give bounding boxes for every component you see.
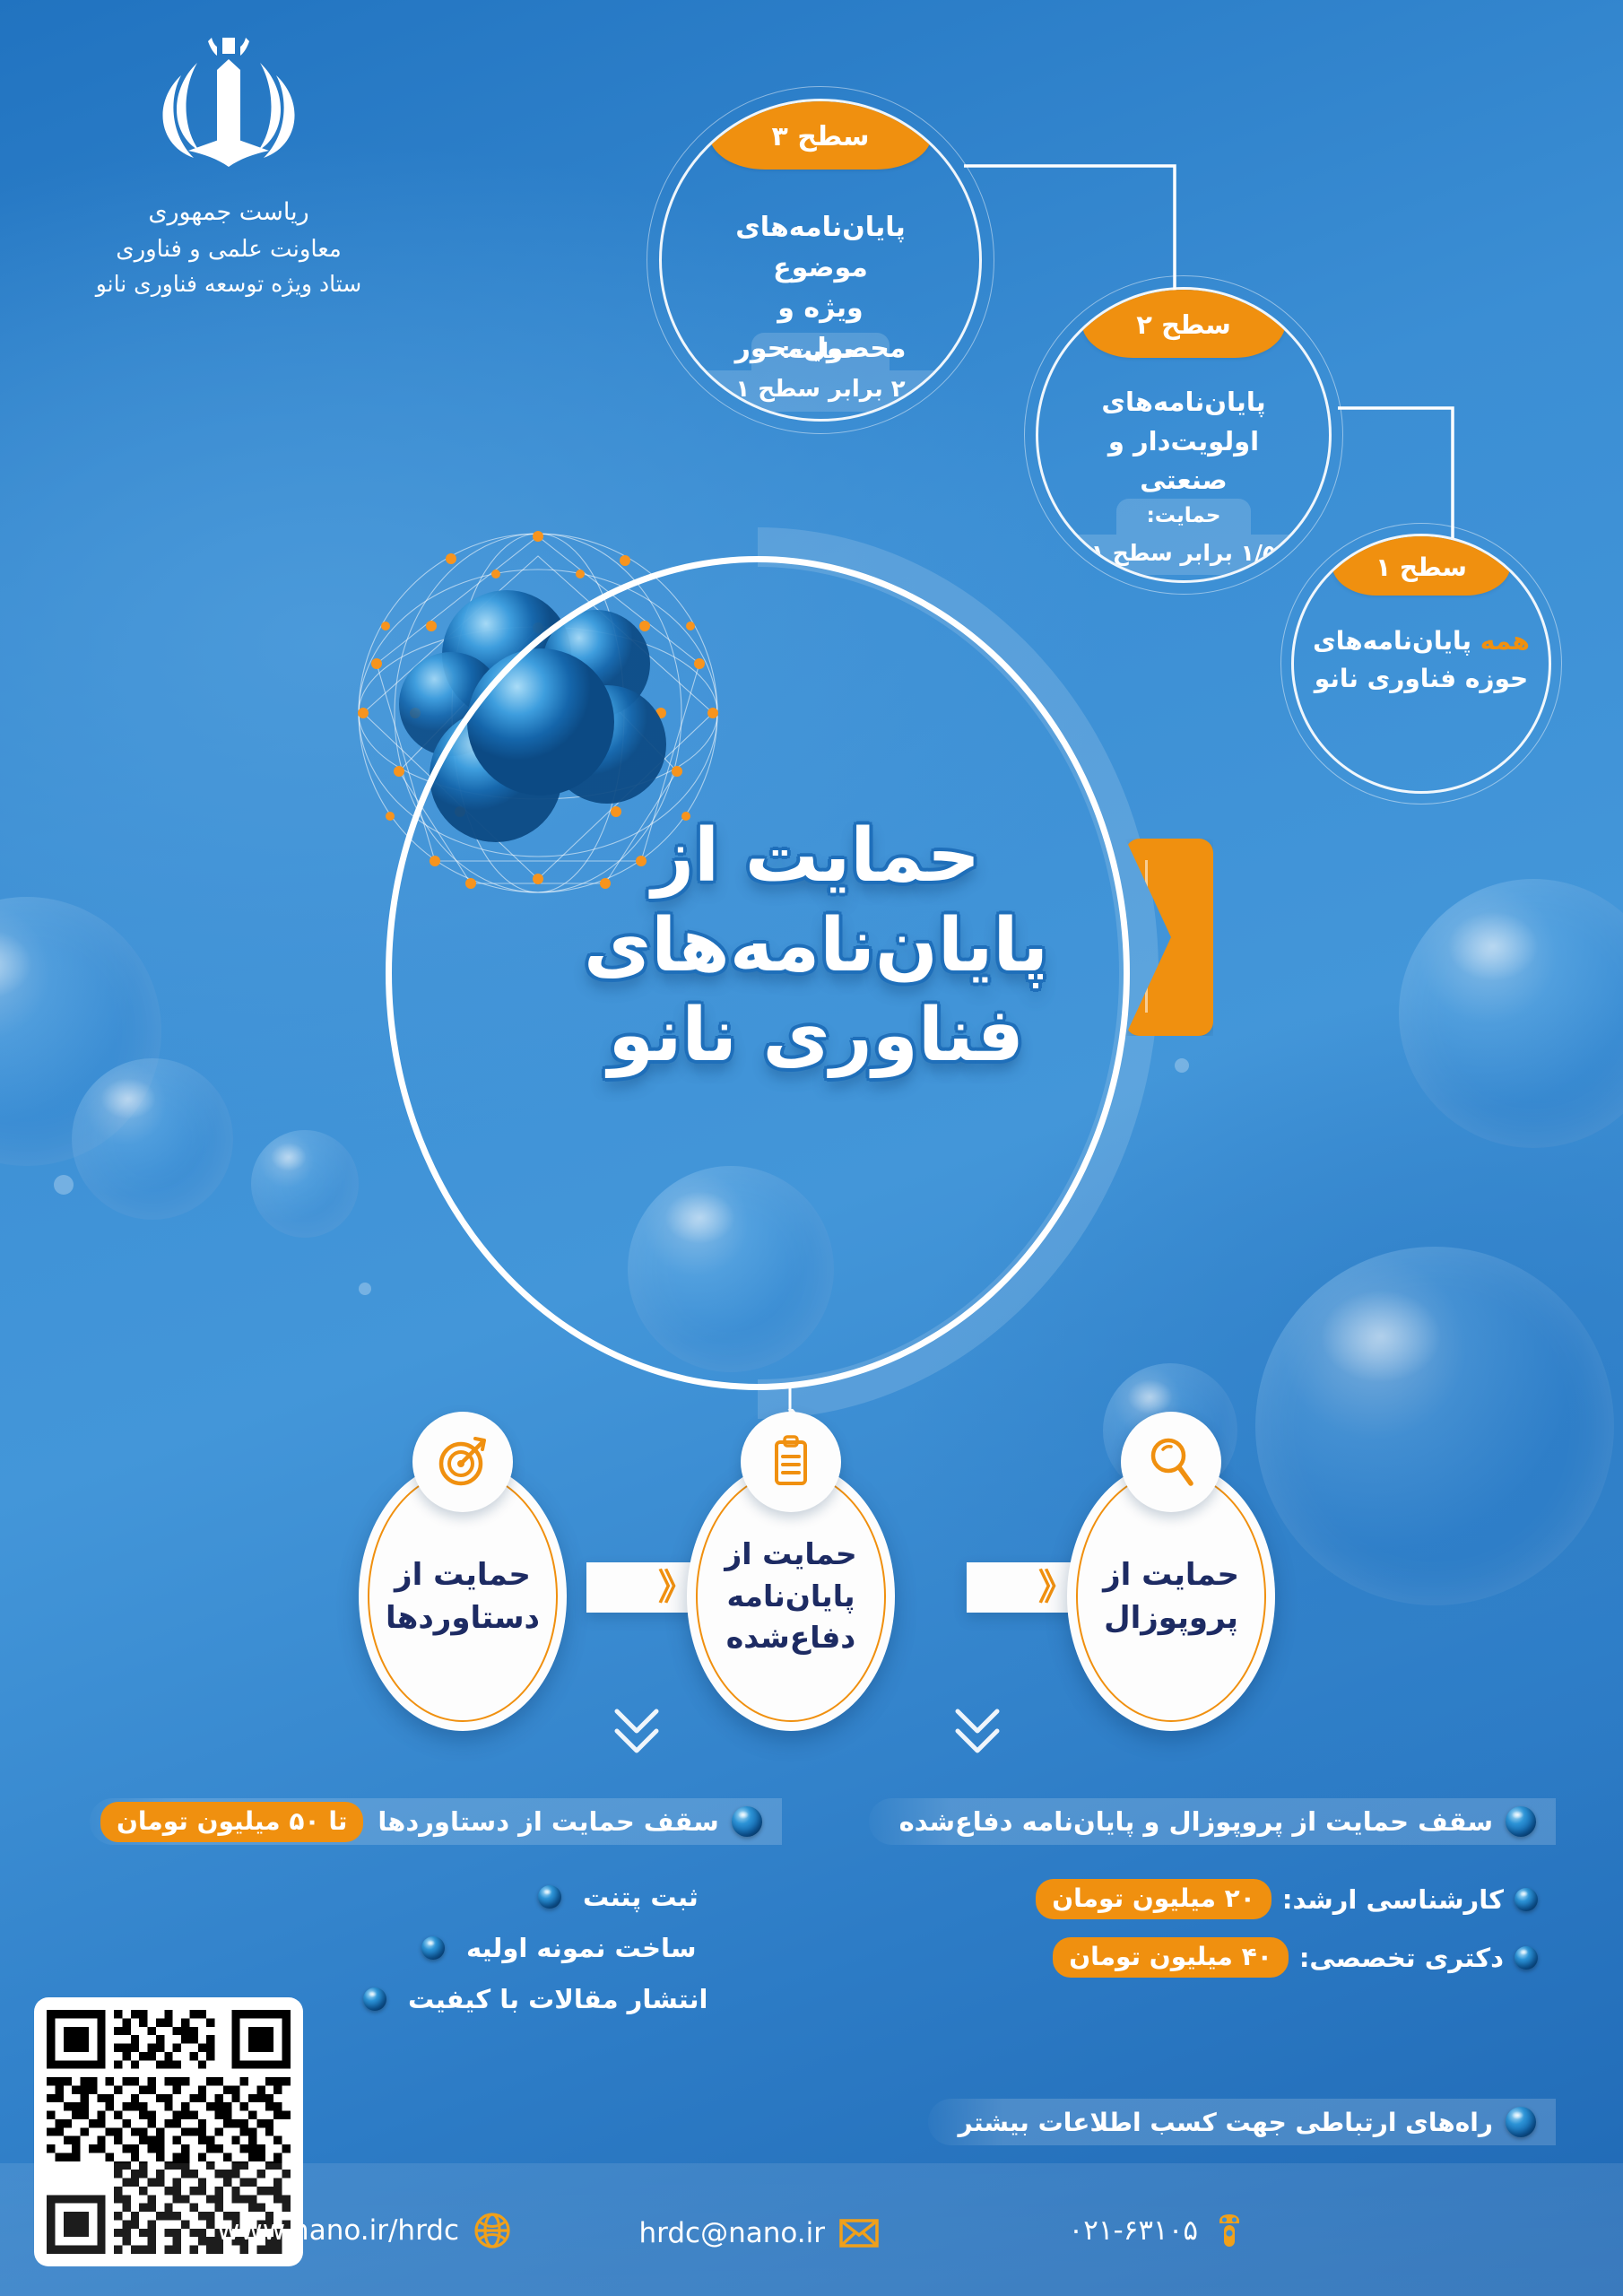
level-3-circle[interactable]: سطح ۳ پایان‌نامه‌های موضوع ویژه و محصول‌… — [659, 99, 982, 422]
defended-line3: دفاع‌شده — [725, 1617, 856, 1659]
level-1-circle[interactable]: سطح ۱ همه پایان‌نامه‌های حوزه فناوری نان… — [1291, 534, 1551, 794]
down-chevron-icon — [610, 1704, 664, 1767]
footer-phone-text: ۰۲۱-۶۳۱۰۵ — [1069, 2214, 1198, 2247]
level-2-title-line1: پایان‌نامه‌های — [1062, 383, 1306, 422]
left-item-text: ثبت پتنت — [583, 1882, 699, 1912]
bullet-marble-icon — [1506, 2107, 1536, 2137]
proposal-line2: پروپوزال — [1103, 1596, 1239, 1639]
level-2-title-line2: اولویت‌دار و صنعتی — [1062, 422, 1306, 500]
left-item-text: ساخت نمونه اولیه — [466, 1933, 696, 1963]
level-1-title-rest: پایان‌نامه‌های — [1313, 626, 1471, 656]
left-block-item: ثبت پتنت — [538, 1882, 699, 1912]
title-line3: فناوری نانو — [502, 991, 1130, 1081]
bullet-marble-icon — [421, 1936, 445, 1960]
page-title: حمایت از پایان‌نامه‌های فناوری نانو — [502, 812, 1130, 1081]
decor-bubble — [72, 1058, 233, 1220]
bullet-marble-icon — [538, 1885, 561, 1909]
level-3-support-label: حمایت: — [751, 333, 890, 370]
decor-dot — [54, 1175, 74, 1195]
level-1-title-line2: حوزه فناوری نانو — [1313, 660, 1530, 698]
clipboard-icon — [741, 1412, 841, 1512]
bullet-marble-icon — [1515, 1888, 1538, 1911]
level-3-badge-label: سطح ۳ — [771, 121, 869, 152]
proposal-line1: حمایت از — [1103, 1553, 1239, 1596]
footer-heading-text: راه‌های ارتباطی جهت کسب اطلاعات بیشتر — [959, 2108, 1493, 2137]
arc-text-highlight: همه — [323, 493, 334, 500]
footer-phone[interactable]: ۰۲۱-۶۳۱۰۵ — [1069, 2212, 1246, 2249]
right-block-row-masters: کارشناسی ارشد: ۲۰ میلیون تومان — [1036, 1879, 1538, 1919]
masters-amount: ۲۰ میلیون تومان — [1036, 1879, 1271, 1919]
level-2-badge: سطح ۲ — [1082, 288, 1286, 358]
right-block-row-phd: دکتری تخصصی: ۴۰ میلیون تومان — [1053, 1937, 1538, 1978]
footer-email[interactable]: hrdc@nano.ir — [639, 2217, 880, 2249]
bullet-marble-icon — [363, 1987, 386, 2011]
footer-heading: راه‌های ارتباطی جهت کسب اطلاعات بیشتر — [928, 2099, 1556, 2145]
decor-bubble — [1255, 1247, 1614, 1605]
right-block-heading: سقف حمایت از پروپوزال و پایان‌نامه دفاع‌… — [869, 1798, 1556, 1845]
level-2-badge-label: سطح ۲ — [1136, 309, 1230, 340]
level-3-badge: سطح ۳ — [709, 100, 932, 170]
target-icon — [412, 1412, 513, 1512]
title-line2: پایان‌نامه‌های — [502, 901, 1130, 991]
bullet-marble-icon — [732, 1806, 762, 1837]
bullet-marble-icon — [1506, 1806, 1536, 1837]
decor-bubble — [0, 897, 161, 1166]
down-chevron-icon — [950, 1704, 1004, 1767]
level-1-title-highlight: همه — [1480, 626, 1530, 656]
level-3-support: حمایت: ۲ برابر سطح ۱ — [662, 333, 979, 412]
achievements-line1: حمایت از — [386, 1553, 540, 1596]
left-item-text: انتشار مقالات با کیفیت — [408, 1984, 707, 2014]
level-1-title-line1: همه پایان‌نامه‌های — [1313, 622, 1530, 660]
poster-canvas: ریاست جمهوری معاونت علمی و فناوری ستاد و… — [0, 0, 1623, 2296]
telephone-icon — [1212, 2212, 1246, 2249]
title-line1: حمایت از — [502, 812, 1130, 901]
left-block-item: انتشار مقالات با کیفیت — [363, 1984, 707, 2014]
level-3-support-value: ۲ برابر سطح ۱ — [662, 370, 979, 412]
defended-line2: پایان‌نامه — [725, 1576, 856, 1618]
globe-icon — [473, 2212, 511, 2249]
achievements-line2: دستاوردها — [386, 1596, 540, 1639]
phd-label: دکتری تخصصی: — [1299, 1943, 1504, 1973]
footer-email-text: hrdc@nano.ir — [639, 2217, 826, 2249]
defended-line1: حمایت از — [725, 1534, 856, 1576]
left-block-item: ساخت نمونه اولیه — [421, 1933, 696, 1963]
phd-amount: ۴۰ میلیون تومان — [1053, 1937, 1289, 1978]
envelope-icon — [839, 2218, 879, 2248]
level-1-badge-label: سطح ۱ — [1376, 552, 1467, 582]
decor-bubble — [1399, 879, 1623, 1148]
magnifier-icon — [1121, 1412, 1221, 1512]
level-3-title-line1: پایان‌نامه‌های موضوع — [707, 207, 935, 288]
process-card-defended-thesis[interactable]: حمایت از پایان‌نامه دفاع‌شده — [687, 1462, 895, 1731]
process-card-proposal[interactable]: حمایت از پروپوزال — [1067, 1462, 1275, 1731]
footer-website[interactable]: www.nano.ir/hrdc — [217, 2212, 511, 2249]
masters-label: کارشناسی ارشد: — [1282, 1884, 1504, 1915]
footer-website-text: www.nano.ir/hrdc — [217, 2214, 459, 2247]
level-1-badge: سطح ۱ — [1332, 535, 1511, 596]
achievements-cap-amount: تا ۵۰ میلیون تومان — [100, 1802, 363, 1842]
process-card-achievements[interactable]: حمایت از دستاوردها — [359, 1462, 567, 1731]
left-heading-text: سقف حمایت از دستاوردها — [378, 1806, 718, 1837]
right-heading-text: سقف حمایت از پروپوزال و پایان‌نامه دفاع‌… — [899, 1806, 1493, 1837]
left-block-heading: سقف حمایت از دستاوردها تا ۵۰ میلیون توما… — [90, 1798, 782, 1845]
bullet-marble-icon — [1515, 1946, 1538, 1970]
arc-text-part2: پایان‌نامه‌های تحصیلات تکمیلی حوزه فناور… — [323, 493, 337, 500]
